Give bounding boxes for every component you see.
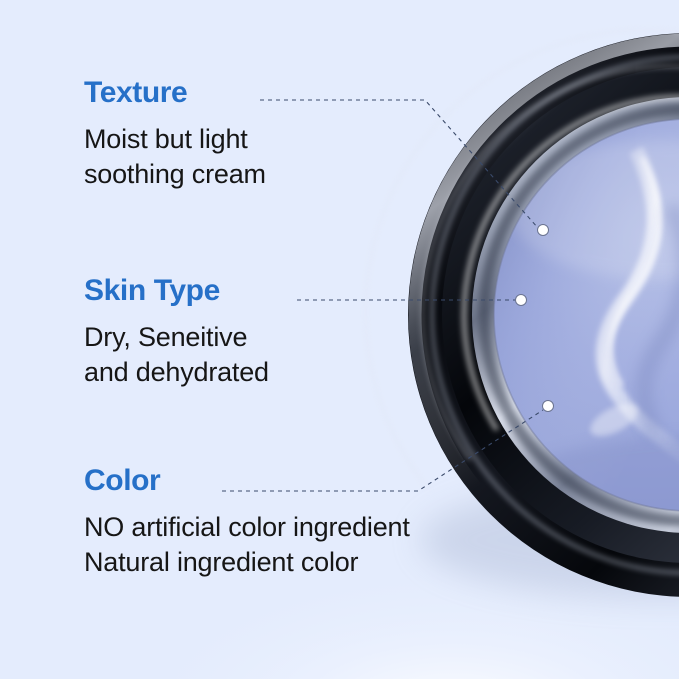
leader-line-texture (260, 100, 538, 228)
callout-text-skin-type-line-1: Dry, Seneitive (84, 320, 269, 355)
callout-text-texture-line-2: soothing cream (84, 157, 266, 192)
callout-text-texture-line-1: Moist but light (84, 122, 266, 157)
callout-skin-type: Skin Type Dry, Seneitive and dehydrated (84, 276, 269, 390)
callout-heading-color: Color (84, 466, 410, 496)
marker-dot-color (543, 401, 554, 412)
callout-text-skin-type-line-2: and dehydrated (84, 355, 269, 390)
callout-color: Color NO artificial color ingredient Nat… (84, 466, 410, 580)
infographic-canvas: Texture Moist but light soothing cream S… (0, 0, 679, 679)
marker-dot-skin-type (516, 295, 527, 306)
callout-heading-texture: Texture (84, 78, 266, 108)
callout-heading-skin-type: Skin Type (84, 276, 269, 306)
callout-text-color-line-2: Natural ingredient color (84, 545, 410, 580)
callout-texture: Texture Moist but light soothing cream (84, 78, 266, 192)
callout-text-color-line-1: NO artificial color ingredient (84, 510, 410, 545)
marker-dot-texture (538, 225, 549, 236)
